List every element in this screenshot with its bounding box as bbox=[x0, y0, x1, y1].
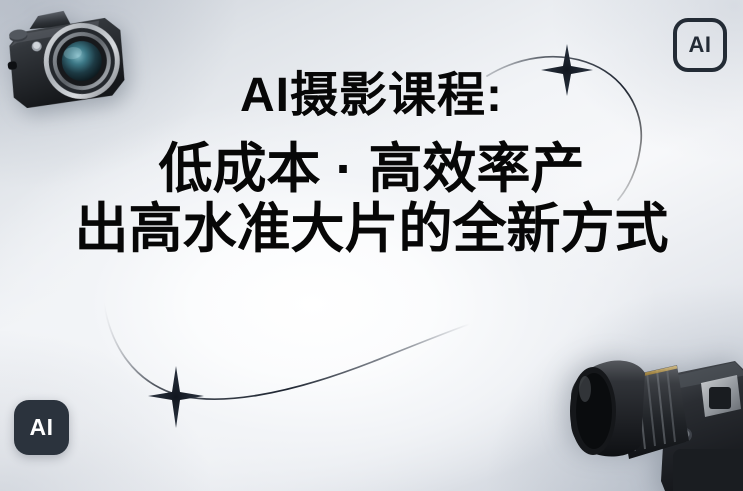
camera-telephoto-lens bbox=[549, 331, 743, 491]
camera-side-port bbox=[7, 61, 17, 70]
ai-badge-top-right-label: AI bbox=[689, 34, 712, 56]
camera-br-mount-slot bbox=[709, 387, 731, 409]
swoosh-curve-bottom bbox=[104, 304, 470, 399]
ai-badge-bottom-left[interactable]: AI bbox=[14, 400, 69, 455]
poster-canvas: AI摄影课程: 低成本 · 高效率产 出高水准大片的全新方式 AI AI bbox=[0, 0, 743, 491]
sparkle-star-bottom bbox=[148, 366, 204, 428]
camera-br-hood-rim-highlight bbox=[579, 376, 591, 402]
title-line-2: 低成本 · 高效率产 bbox=[0, 142, 743, 196]
title-line-3: 出高水准大片的全新方式 bbox=[0, 202, 743, 256]
ai-badge-top-right[interactable]: AI bbox=[673, 18, 727, 72]
camera-mirrorless bbox=[0, 0, 151, 132]
ai-badge-bottom-left-label: AI bbox=[30, 416, 54, 439]
camera-br-grip bbox=[673, 449, 743, 491]
